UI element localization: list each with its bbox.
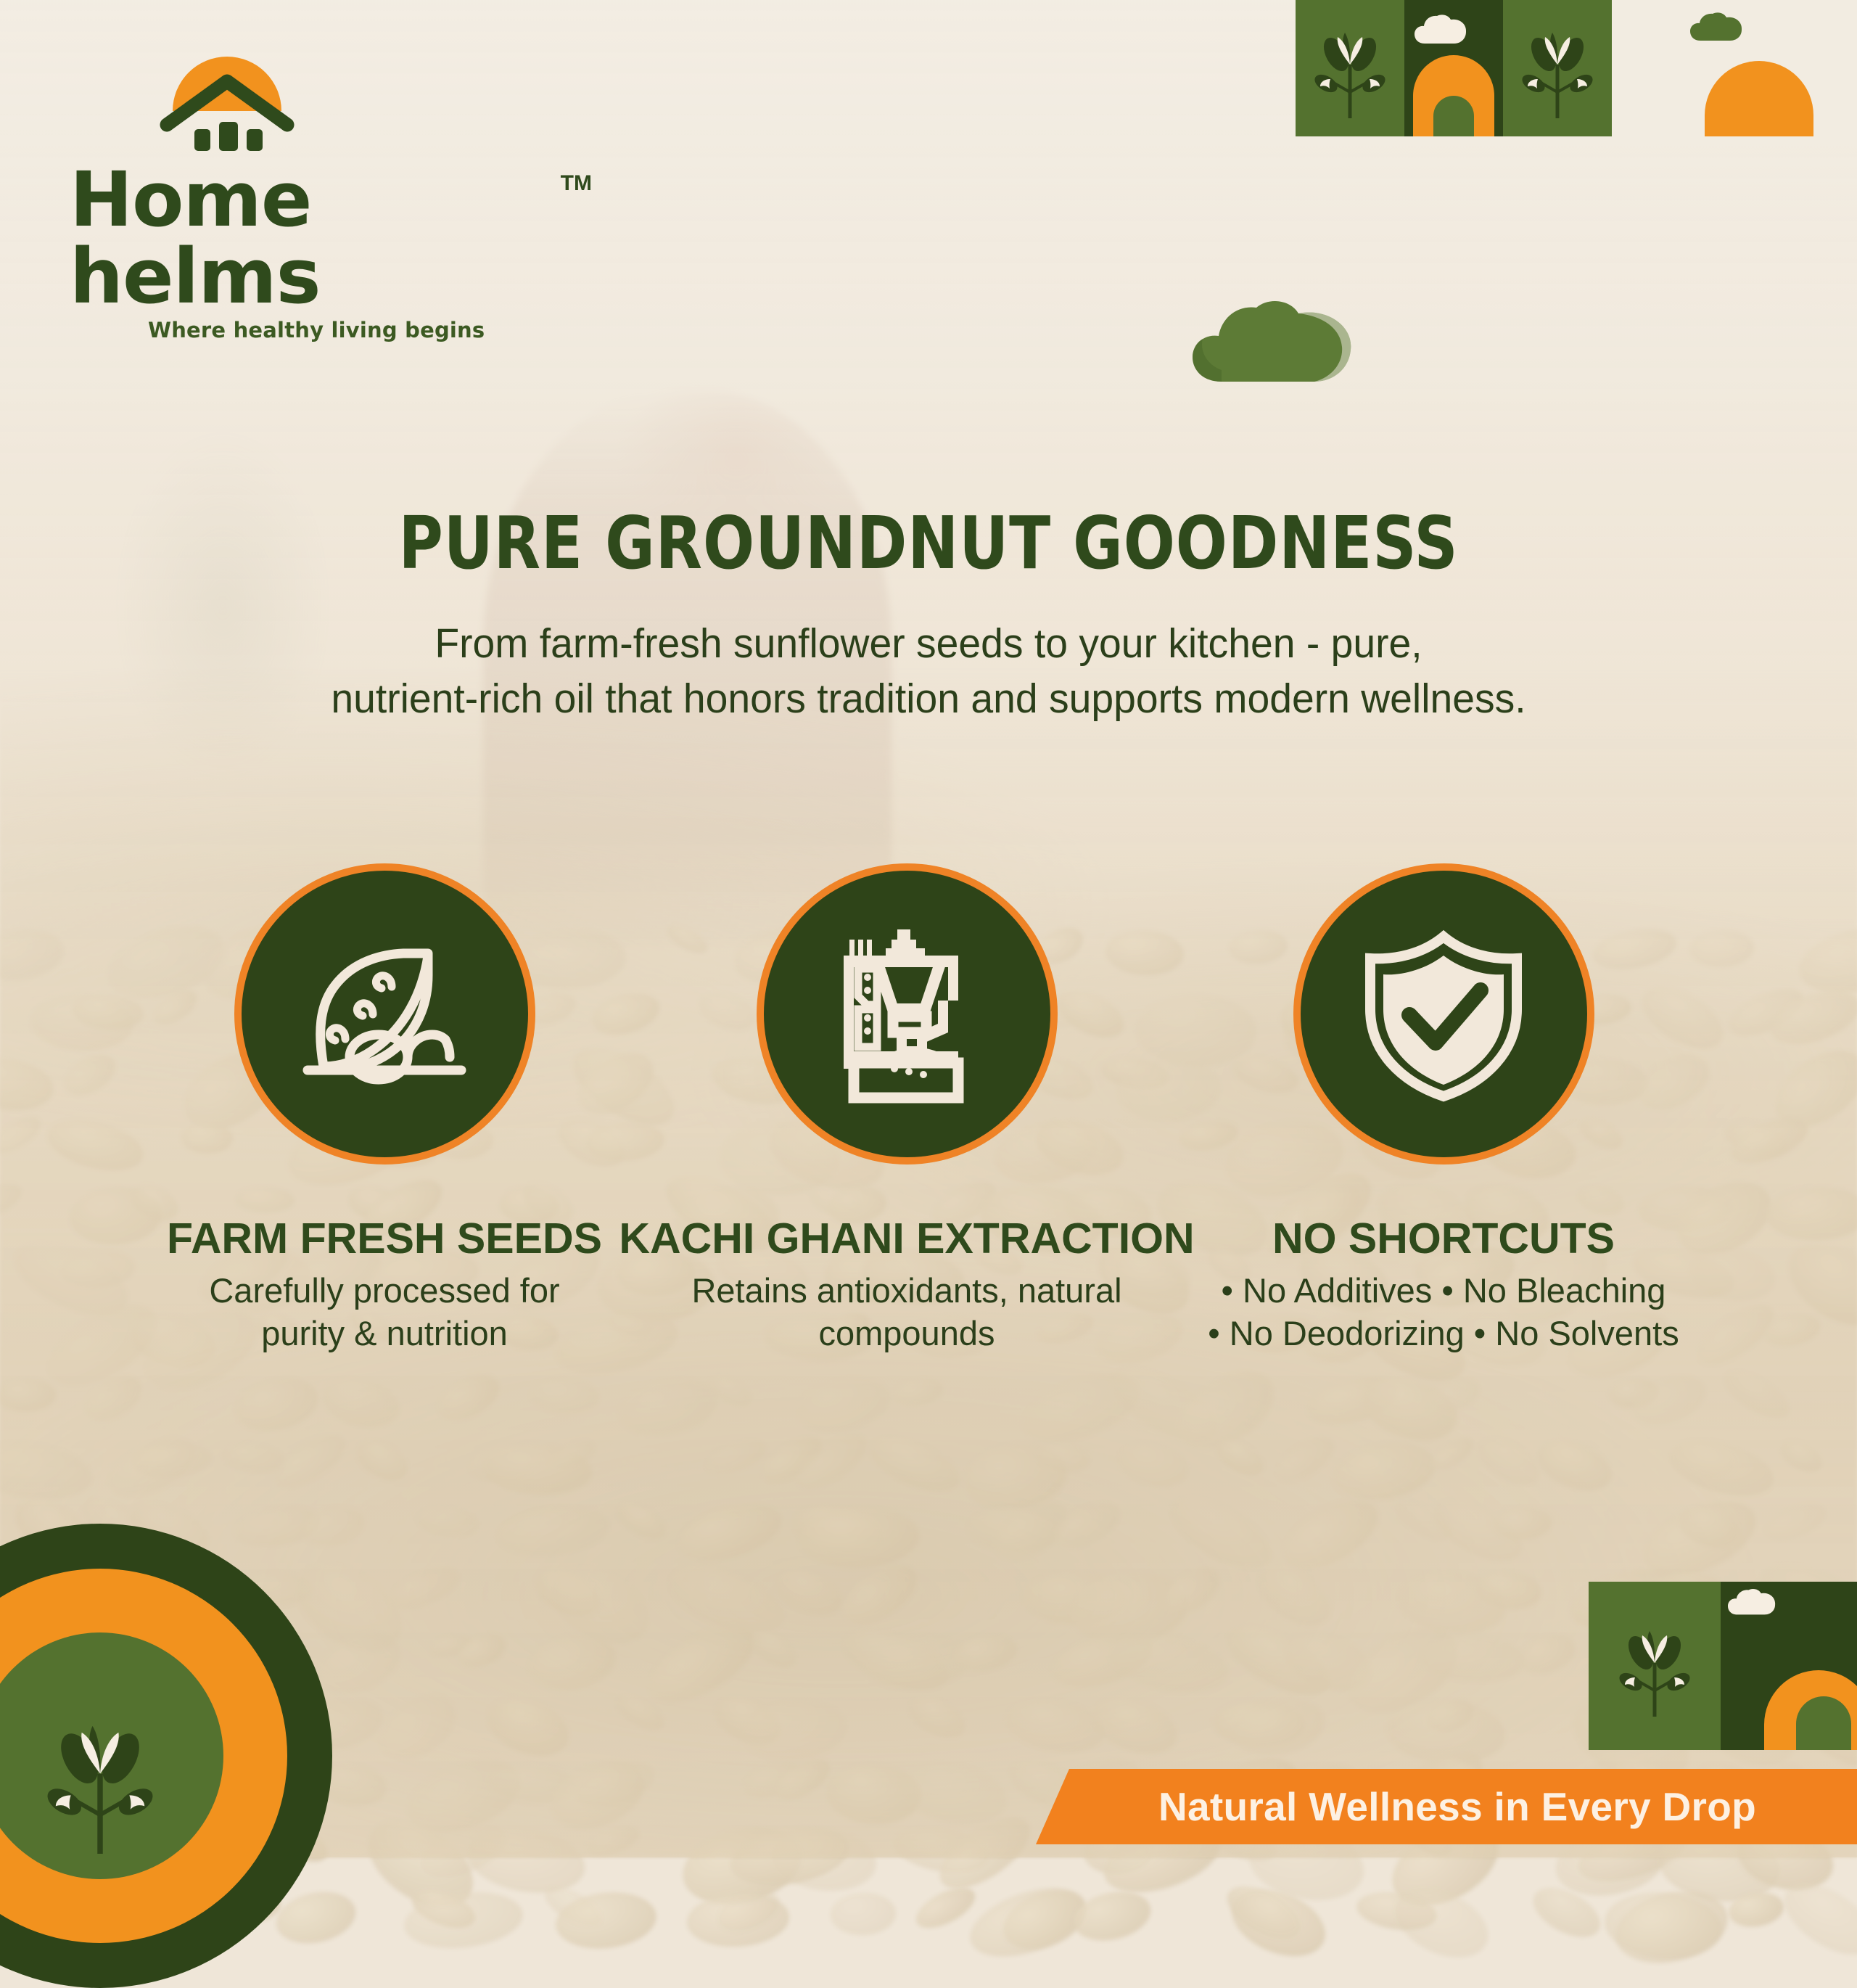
feature-title: KACHI GHANI EXTRACTION bbox=[619, 1214, 1194, 1263]
brand-tagline: Where healthy living begins bbox=[148, 318, 592, 342]
house-icon bbox=[157, 70, 309, 158]
peanut-pod-seeds-icon bbox=[295, 924, 474, 1104]
feature-item-no-shortcuts: NO SHORTCUTS • No Additives • No Bleachi… bbox=[1157, 863, 1730, 1355]
feature-title: FARM FRESH SEEDS bbox=[167, 1214, 602, 1263]
pattern-tile-hill-cloud bbox=[1612, 0, 1857, 136]
feature-icon-circle bbox=[757, 863, 1058, 1165]
feature-desc-line-1: Retains antioxidants, natural bbox=[691, 1269, 1121, 1312]
pattern-tile-arch-cloud bbox=[1404, 0, 1503, 136]
feature-list: FARM FRESH SEEDS Carefully processed for… bbox=[0, 863, 1857, 1355]
seedling-icon bbox=[1612, 1621, 1697, 1718]
feature-item-farm-fresh-seeds: FARM FRESH SEEDS Carefully processed for… bbox=[98, 863, 671, 1355]
cloud-icon bbox=[1690, 12, 1742, 42]
seedling-icon bbox=[35, 1711, 165, 1856]
cloud-icon bbox=[1190, 297, 1364, 385]
feature-desc-line-1: Carefully processed for bbox=[209, 1269, 559, 1312]
concentric-rings-seedling-icon bbox=[0, 1524, 332, 1988]
arch-inner bbox=[1433, 96, 1474, 136]
page-subtitle: From farm-fresh sunflower seeds to your … bbox=[28, 616, 1829, 727]
brand-logo[interactable]: Home helms TM Where healthy living begin… bbox=[70, 57, 592, 342]
feature-desc-line-1: • No Additives • No Bleaching bbox=[1208, 1269, 1679, 1312]
feature-desc-line-2: compounds bbox=[691, 1312, 1121, 1355]
bottom-banner: Natural Wellness in Every Drop bbox=[1036, 1769, 1857, 1844]
pattern-tile-seedling-3 bbox=[1589, 1582, 1721, 1750]
house-sunrise-icon bbox=[157, 57, 309, 158]
feature-description: • No Additives • No Bleaching • No Deodo… bbox=[1208, 1269, 1679, 1355]
cloud-icon bbox=[1415, 13, 1467, 45]
brand-name: Home helms bbox=[70, 161, 558, 315]
feature-description: Retains antioxidants, natural compounds bbox=[691, 1269, 1121, 1355]
banner-text: Natural Wellness in Every Drop bbox=[1137, 1783, 1756, 1830]
trademark-symbol: TM bbox=[561, 171, 592, 196]
page-title: PURE GROUNDNUT GOODNESS bbox=[65, 501, 1792, 586]
pattern-tile-seedling-2 bbox=[1503, 0, 1612, 136]
feature-desc-line-2: purity & nutrition bbox=[209, 1312, 559, 1355]
arch-inner bbox=[1796, 1696, 1851, 1750]
feature-description: Carefully processed for purity & nutriti… bbox=[209, 1269, 559, 1355]
pattern-tile-seedling-1 bbox=[1296, 0, 1404, 136]
top-decorative-pattern bbox=[1296, 0, 1857, 136]
feature-title: NO SHORTCUTS bbox=[1272, 1214, 1615, 1263]
shield-check-icon bbox=[1353, 924, 1534, 1105]
oil-press-machine-icon bbox=[816, 924, 997, 1105]
feature-item-kachi-ghani-extraction: KACHI GHANI EXTRACTION Retains antioxida… bbox=[620, 863, 1193, 1355]
seedling-icon bbox=[1307, 22, 1393, 120]
feature-icon-circle bbox=[234, 863, 535, 1165]
feature-icon-circle bbox=[1293, 863, 1594, 1165]
cloud-icon bbox=[1728, 1587, 1776, 1617]
hero-text-block: PURE GROUNDNUT GOODNESS From farm-fresh … bbox=[0, 501, 1857, 727]
feature-desc-line-2: • No Deodorizing • No Solvents bbox=[1208, 1312, 1679, 1355]
pattern-tile-arch-cloud-2 bbox=[1721, 1582, 1857, 1750]
subtitle-line-1: From farm-fresh sunflower seeds to your … bbox=[28, 616, 1829, 671]
hill-icon bbox=[1705, 61, 1813, 136]
bottom-decorative-pattern bbox=[1589, 1582, 1857, 1750]
subtitle-line-2: nutrient-rich oil that honors tradition … bbox=[28, 671, 1829, 726]
seedling-icon bbox=[1515, 22, 1600, 120]
